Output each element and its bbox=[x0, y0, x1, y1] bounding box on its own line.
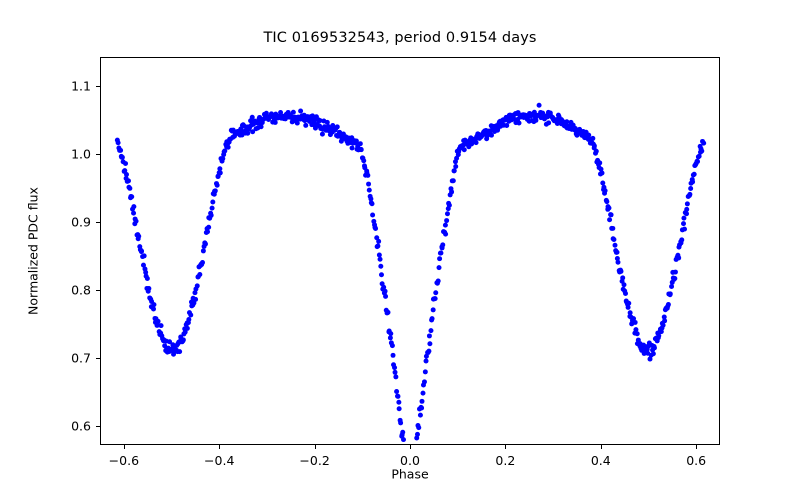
plot-area bbox=[100, 57, 720, 445]
x-tick-label: 0.0 bbox=[400, 453, 420, 468]
x-tick-label: −0.2 bbox=[299, 453, 329, 468]
chart-title: TIC 0169532543, period 0.9154 days bbox=[0, 30, 800, 46]
x-tick-label: −0.4 bbox=[204, 453, 234, 468]
x-tick-mark bbox=[410, 445, 411, 449]
figure-canvas: TIC 0169532543, period 0.9154 days Norma… bbox=[0, 0, 800, 500]
x-tick-mark bbox=[505, 445, 506, 449]
x-tick-mark bbox=[696, 445, 697, 449]
x-tick-label: −0.6 bbox=[109, 453, 139, 468]
y-tick-label: 1.1 bbox=[71, 78, 91, 93]
scatter-points-layer bbox=[101, 58, 719, 444]
x-axis-label: Phase bbox=[391, 467, 428, 482]
x-tick-mark bbox=[601, 445, 602, 449]
y-tick-label: 0.6 bbox=[71, 419, 91, 434]
x-tick-mark bbox=[315, 445, 316, 449]
x-tick-label: 0.6 bbox=[686, 453, 706, 468]
y-tick-label: 0.7 bbox=[71, 351, 91, 366]
y-tick-label: 1.0 bbox=[71, 147, 91, 162]
x-tick-mark bbox=[124, 445, 125, 449]
y-tick-label: 0.9 bbox=[71, 215, 91, 230]
x-tick-mark bbox=[219, 445, 220, 449]
y-tick-label: 0.8 bbox=[71, 283, 91, 298]
x-tick-label: 0.2 bbox=[495, 453, 515, 468]
y-axis-label: Normalized PDC flux bbox=[26, 187, 41, 315]
x-tick-label: 0.4 bbox=[591, 453, 611, 468]
